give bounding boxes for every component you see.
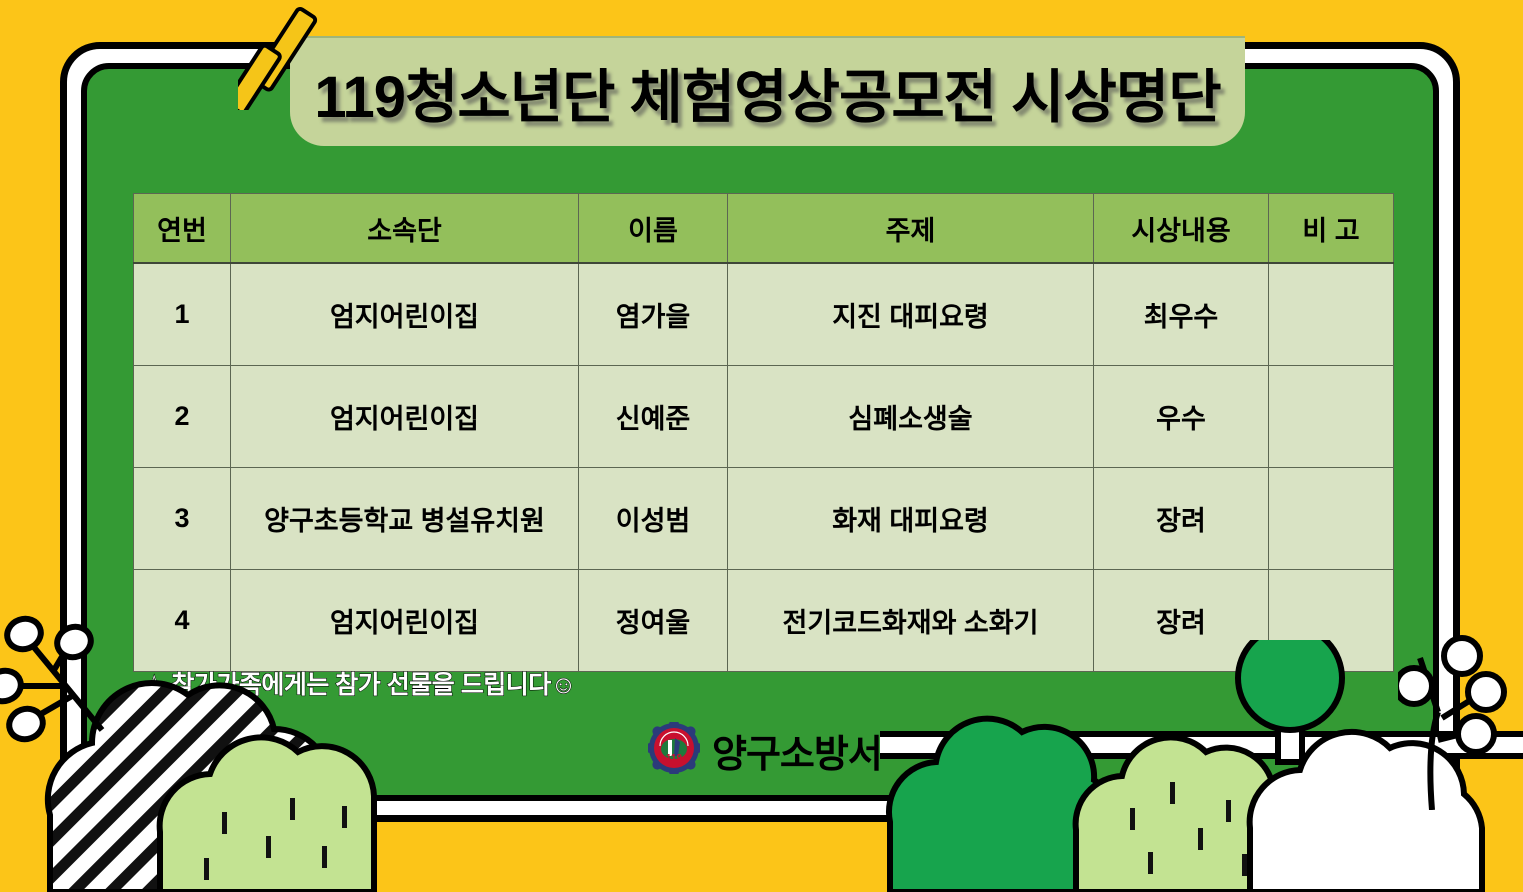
cell-note: [1269, 366, 1394, 468]
title-banner: 119청소년단 체험영상공모전 시상명단: [290, 36, 1245, 146]
organization-name: 양구소방서: [712, 723, 882, 778]
column-header-topic: 주제: [728, 194, 1094, 264]
award-table: 연번 소속단 이름 주제 시상내용 비 고 1 엄지어린이집 염가을 지진 대피…: [133, 193, 1394, 672]
cell-name: 신예준: [579, 366, 728, 468]
cell-no: 2: [134, 366, 231, 468]
cell-award: 장려: [1094, 570, 1269, 672]
cell-org: 엄지어린이집: [231, 570, 579, 672]
table-header-row: 연번 소속단 이름 주제 시상내용 비 고: [134, 194, 1394, 264]
fire-department-emblem-icon: 119: [648, 722, 700, 779]
cell-award: 우수: [1094, 366, 1269, 468]
column-header-award: 시상내용: [1094, 194, 1269, 264]
column-header-org: 소속단: [231, 194, 579, 264]
award-table-container: 연번 소속단 이름 주제 시상내용 비 고 1 엄지어린이집 염가을 지진 대피…: [133, 193, 1393, 672]
cell-name: 이성범: [579, 468, 728, 570]
table-row: 2 엄지어린이집 신예준 심폐소생술 우수: [134, 366, 1394, 468]
table-row: 1 엄지어린이집 염가을 지진 대피요령 최우수: [134, 263, 1394, 366]
cell-no: 3: [134, 468, 231, 570]
cell-note: [1269, 570, 1394, 672]
poster-canvas: 119청소년단 체험영상공모전 시상명단 연번 소속단 이름 주제 시상내용 비…: [0, 0, 1523, 892]
footer-logo-group: 119 양구소방서: [648, 722, 882, 779]
cell-org: 엄지어린이집: [231, 263, 579, 366]
cell-topic: 화재 대피요령: [728, 468, 1094, 570]
column-header-note: 비 고: [1269, 194, 1394, 264]
table-row: 4 엄지어린이집 정여울 전기코드화재와 소화기 장려: [134, 570, 1394, 672]
cell-topic: 전기코드화재와 소화기: [728, 570, 1094, 672]
cell-topic: 지진 대피요령: [728, 263, 1094, 366]
cell-no: 1: [134, 263, 231, 366]
cell-org: 양구초등학교 병설유치원: [231, 468, 579, 570]
cell-note: [1269, 263, 1394, 366]
cell-name: 염가을: [579, 263, 728, 366]
cell-org: 엄지어린이집: [231, 366, 579, 468]
cell-name: 정여울: [579, 570, 728, 672]
cell-note: [1269, 468, 1394, 570]
cell-topic: 심폐소생술: [728, 366, 1094, 468]
footnote-text: ☆ 참가가족에게는 참가 선물을 드립니다☺: [143, 665, 576, 701]
column-header-no: 연번: [134, 194, 231, 264]
svg-text:119: 119: [666, 753, 683, 764]
page-title: 119청소년단 체험영상공모전 시상명단: [314, 50, 1220, 134]
cell-award: 최우수: [1094, 263, 1269, 366]
sparkle-dashes-icon: [238, 0, 368, 110]
table-row: 3 양구초등학교 병설유치원 이성범 화재 대피요령 장려: [134, 468, 1394, 570]
cell-award: 장려: [1094, 468, 1269, 570]
cell-no: 4: [134, 570, 231, 672]
column-header-name: 이름: [579, 194, 728, 264]
